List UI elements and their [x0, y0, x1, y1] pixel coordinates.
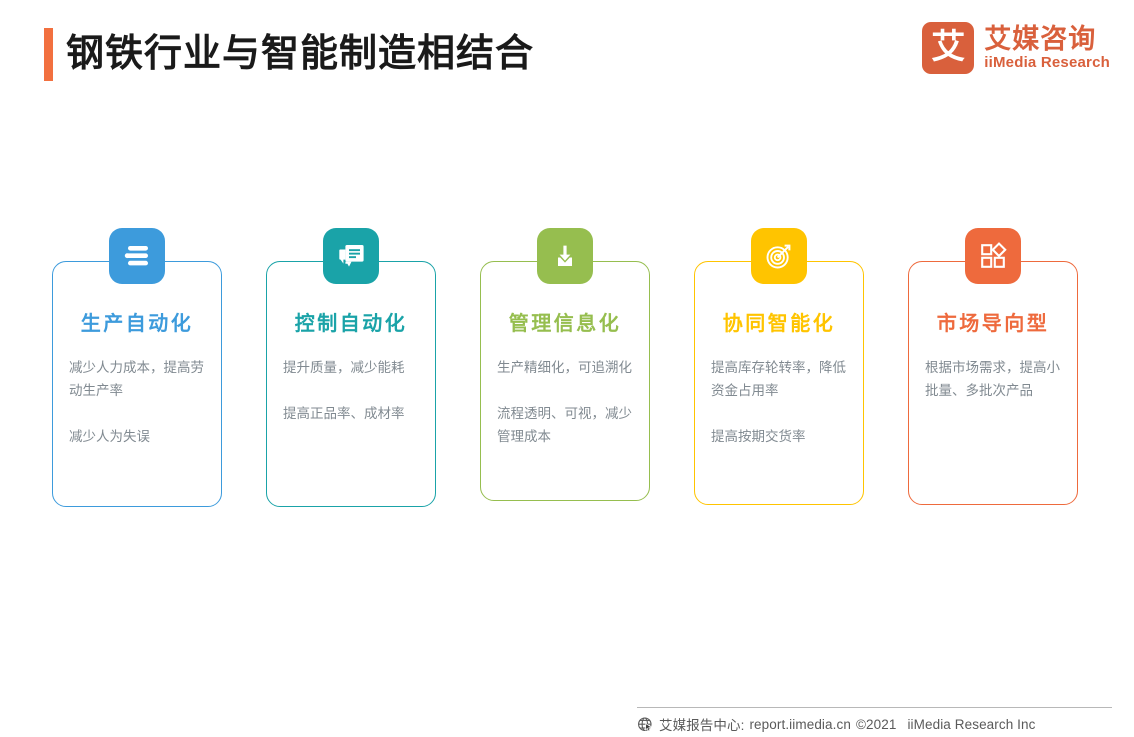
card-body-line: 流程透明、可视，减少管理成本 — [497, 402, 633, 448]
card-box: 市场导向型 根据市场需求，提高小批量、多批次产品 — [908, 261, 1078, 505]
card-body-line: 减少人为失误 — [69, 425, 205, 448]
card-body-line: 提高按期交货率 — [711, 425, 847, 448]
card-body: 生产精细化，可追溯化 流程透明、可视，减少管理成本 — [481, 356, 649, 448]
card-title: 管理信息化 — [481, 307, 649, 336]
grid-dashboard-icon — [965, 228, 1021, 284]
brand-name-en: iiMedia Research — [984, 54, 1110, 72]
card-body-line: 提高库存轮转率，降低资金占用率 — [711, 356, 847, 402]
card-box: 控制自动化 提升质量，减少能耗 提高正品率、成材率 — [266, 261, 436, 507]
card-title: 生产自动化 — [53, 307, 221, 336]
card-body-line: 根据市场需求，提高小批量、多批次产品 — [925, 356, 1061, 402]
download-inbox-icon — [537, 228, 593, 284]
footer-url[interactable]: report.iimedia.cn — [749, 717, 851, 732]
footer-copyright: ©2021 — [856, 717, 896, 732]
card-body: 根据市场需求，提高小批量、多批次产品 — [909, 356, 1077, 402]
card-title: 控制自动化 — [267, 307, 435, 336]
slide-page: 钢铁行业与智能制造相结合 艾 艾媒咨询 iiMedia Research 生产自… — [0, 0, 1134, 737]
card-box: 管理信息化 生产精细化，可追溯化 流程透明、可视，减少管理成本 — [480, 261, 650, 501]
card-title: 协同智能化 — [695, 307, 863, 336]
card-box: 协同智能化 提高库存轮转率，降低资金占用率 提高按期交货率 — [694, 261, 864, 505]
card-body-line: 生产精细化，可追溯化 — [497, 356, 633, 379]
card-body: 减少人力成本，提高劳动生产率 减少人为失误 — [53, 356, 221, 448]
title-accent-bar — [44, 28, 53, 81]
card-body-line: 提高正品率、成材率 — [283, 402, 419, 425]
footer-divider — [637, 707, 1112, 708]
brand-logo: 艾 艾媒咨询 iiMedia Research — [922, 22, 1110, 74]
chat-lines-icon — [323, 228, 379, 284]
card-title: 市场导向型 — [909, 307, 1077, 336]
feature-cards-row: 生产自动化 减少人力成本，提高劳动生产率 减少人为失误 控制自动化 — [0, 228, 1134, 528]
footer: 艾媒报告中心: report.iimedia.cn ©2021 iiMedia … — [637, 712, 1117, 736]
target-arrow-icon — [751, 228, 807, 284]
card-box: 生产自动化 减少人力成本，提高劳动生产率 减少人为失误 — [52, 261, 222, 507]
card-body: 提高库存轮转率，降低资金占用率 提高按期交货率 — [695, 356, 863, 448]
header: 钢铁行业与智能制造相结合 艾 艾媒咨询 iiMedia Research — [0, 0, 1134, 110]
globe-cursor-icon — [637, 716, 654, 733]
card-body-line: 减少人力成本，提高劳动生产率 — [69, 356, 205, 402]
page-title: 钢铁行业与智能制造相结合 — [66, 28, 534, 80]
card-body-line: 提升质量，减少能耗 — [283, 356, 419, 379]
footer-label: 艾媒报告中心: — [659, 714, 744, 734]
footer-company: iiMedia Research Inc — [907, 717, 1035, 732]
iimedia-logo-icon: 艾 — [922, 22, 974, 74]
card-body: 提升质量，减少能耗 提高正品率、成材率 — [267, 356, 435, 425]
book-stack-icon — [109, 228, 165, 284]
brand-logo-text: 艾媒咨询 iiMedia Research — [984, 24, 1110, 72]
brand-name-cn: 艾媒咨询 — [984, 24, 1110, 54]
